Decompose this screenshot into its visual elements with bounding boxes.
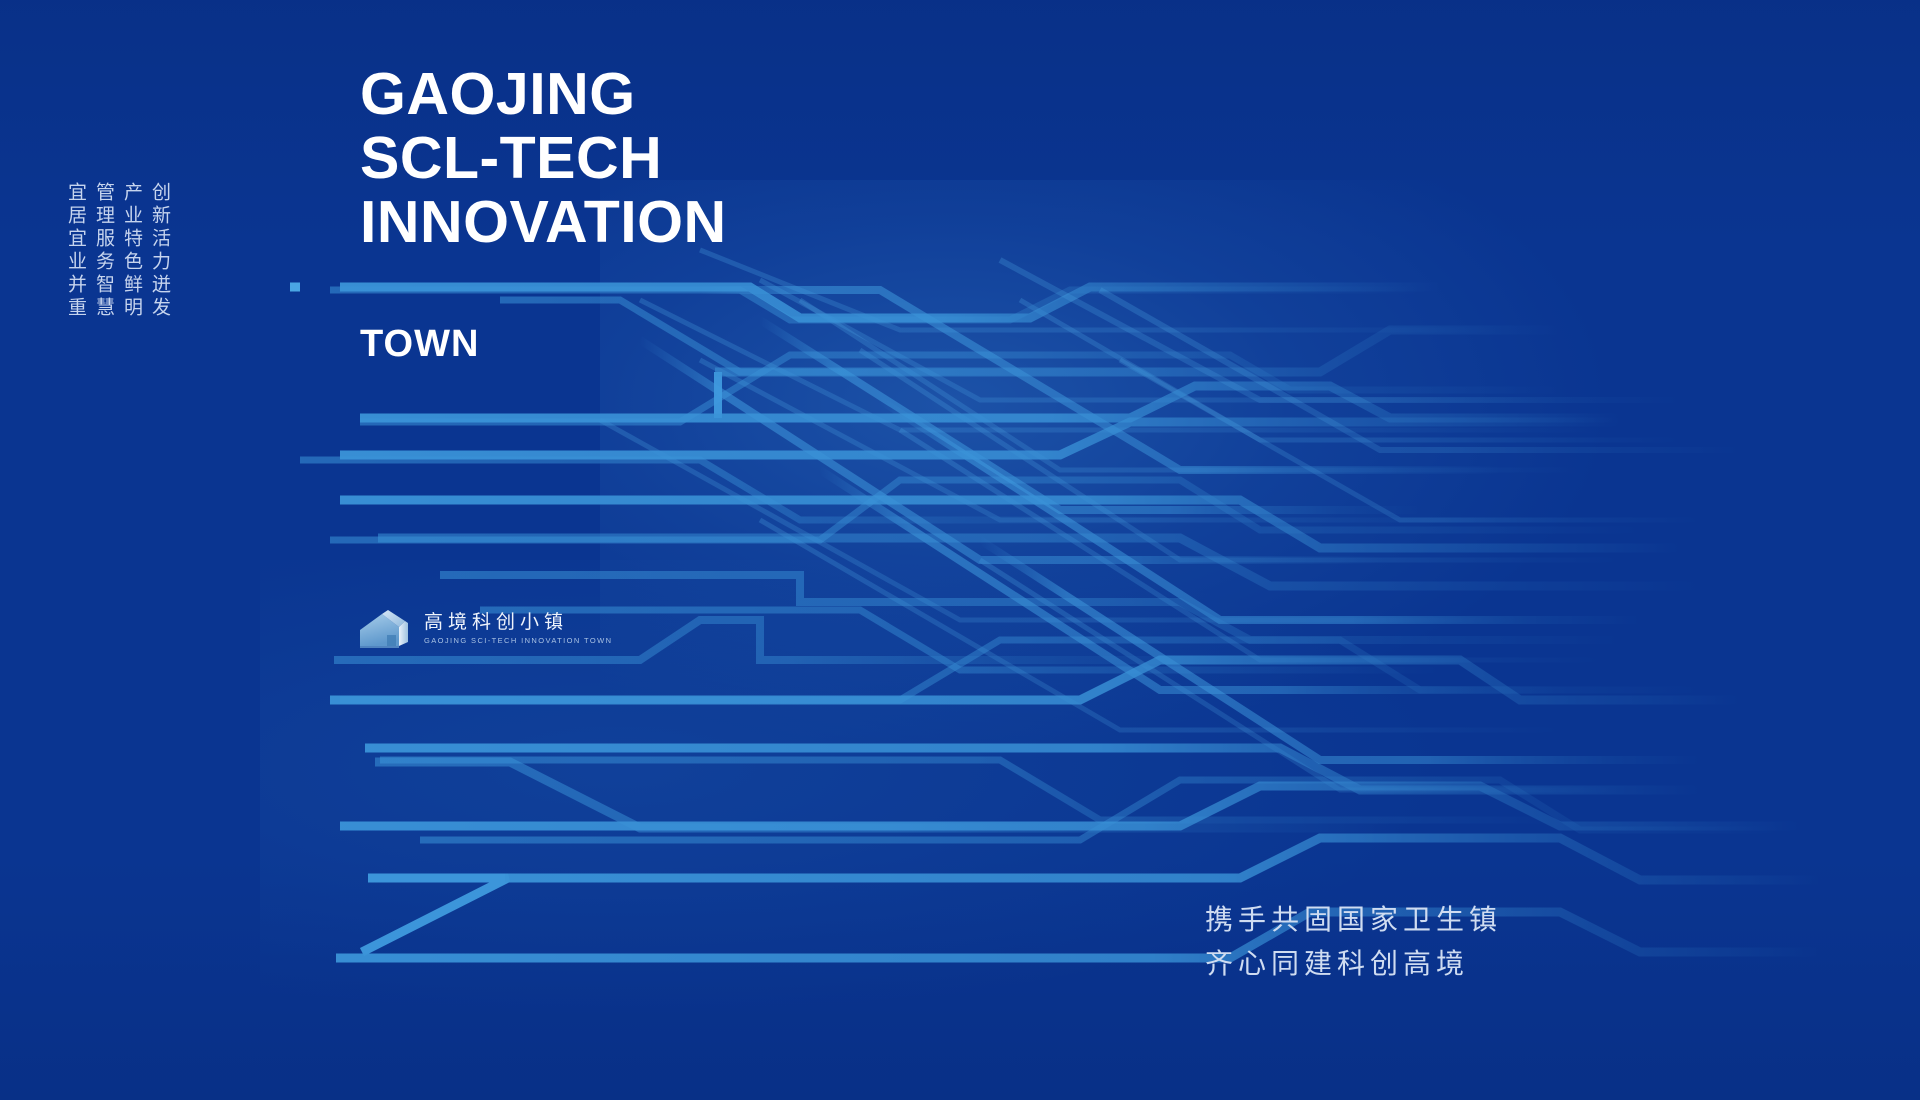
page-title-line-1: GAOJING bbox=[360, 62, 727, 126]
brand-name-cn: 高境科创小镇 bbox=[424, 613, 612, 633]
vertical-slogan-col-1: 创新活力迸发 bbox=[150, 182, 169, 320]
vertical-slogan-col-4: 宜居宜业并重 bbox=[66, 182, 85, 320]
brand-logo: 高境科创小镇 GAOJING SCI-TECH INNOVATION TOWN bbox=[358, 608, 612, 650]
page-title-line-2: SCL-TECH bbox=[360, 126, 727, 190]
vertical-slogan: 创新活力迸发 产业特色鲜明 管理服务智慧 宜居宜业并重 bbox=[66, 182, 169, 320]
house-building-icon bbox=[358, 608, 414, 650]
circuit-line-artwork bbox=[0, 0, 1920, 1100]
vertical-slogan-col-2: 产业特色鲜明 bbox=[122, 182, 141, 320]
bottom-slogan: 携手共固国家卫生镇 齐心同建科创高境 bbox=[1205, 898, 1502, 986]
bottom-slogan-line-1: 携手共固国家卫生镇 bbox=[1205, 898, 1502, 942]
vertical-slogan-col-3: 管理服务智慧 bbox=[94, 182, 113, 320]
page-title: GAOJING SCL-TECH INNOVATION bbox=[360, 62, 727, 254]
brand-name-en: GAOJING SCI-TECH INNOVATION TOWN bbox=[424, 636, 612, 645]
bottom-slogan-line-2: 齐心同建科创高境 bbox=[1205, 942, 1502, 986]
poster-canvas: 创新活力迸发 产业特色鲜明 管理服务智慧 宜居宜业并重 GAOJING SCL-… bbox=[0, 0, 1920, 1100]
brand-logo-text: 高境科创小镇 GAOJING SCI-TECH INNOVATION TOWN bbox=[424, 613, 612, 645]
page-subtitle: TOWN bbox=[360, 323, 479, 366]
page-title-line-3: INNOVATION bbox=[360, 190, 727, 254]
